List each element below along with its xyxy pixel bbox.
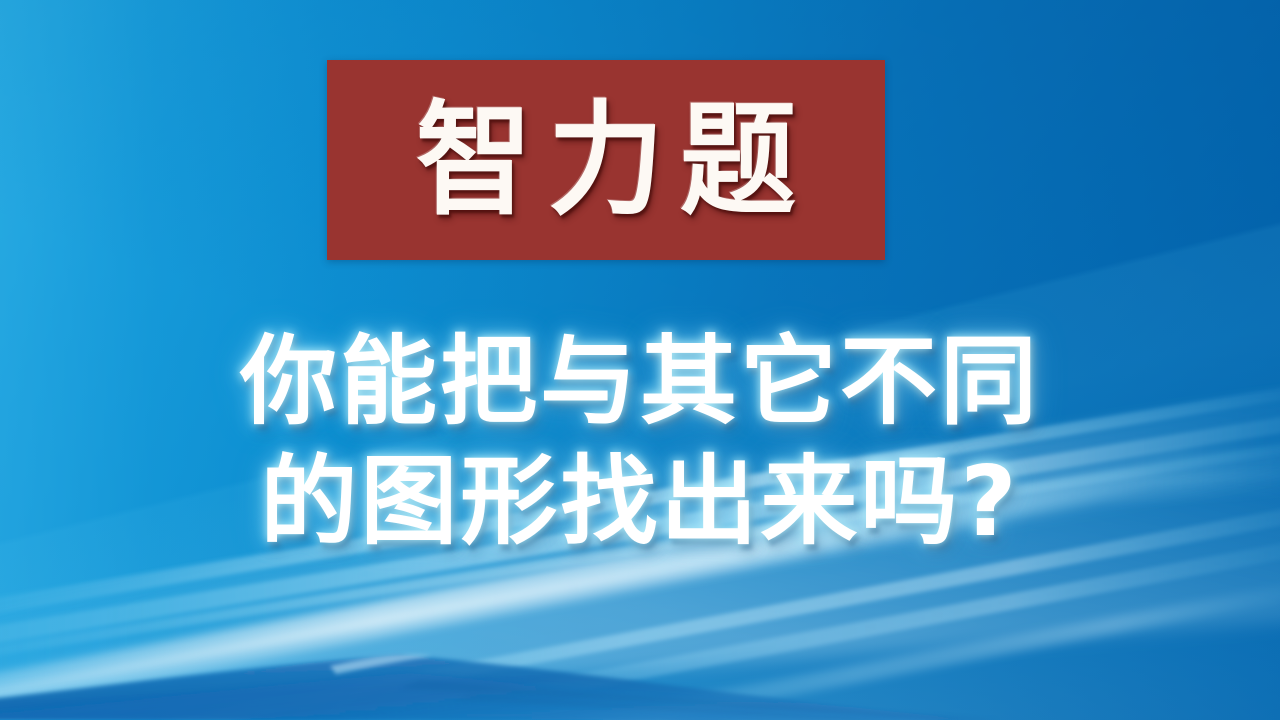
slide-canvas: 智力题 你能把与其它不同 的图形找出来吗? [0,0,1280,720]
question-text-block: 你能把与其它不同 的图形找出来吗? [0,322,1280,562]
title-banner: 智力题 [327,60,885,260]
question-line-2: 的图形找出来吗? [0,442,1280,562]
title-banner-label: 智力题 [400,99,812,222]
question-line-1: 你能把与其它不同 [0,322,1280,442]
